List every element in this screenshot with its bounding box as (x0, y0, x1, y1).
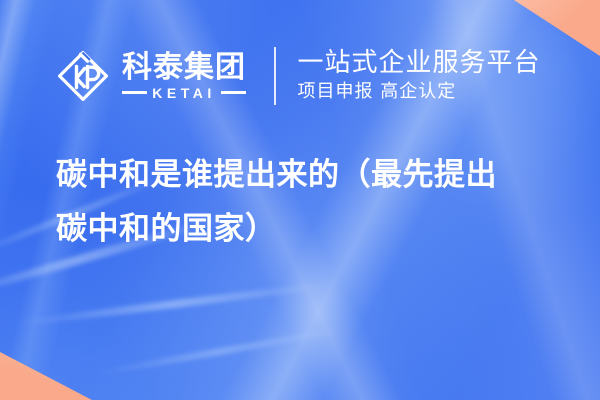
brand-logo[interactable]: 科泰集团 KETAI (56, 49, 246, 103)
promo-banner: 科泰集团 KETAI 一站式企业服务平台 项目申报 高企认定 碳中和是谁提出来的… (0, 0, 600, 400)
tagline-sub: 项目申报 高企认定 (298, 83, 541, 102)
brand-logo-wordmark: 科泰集团 KETAI (122, 53, 246, 100)
brand-name-cn: 科泰集团 (122, 53, 246, 83)
logo-rule-left-icon (122, 91, 147, 94)
logo-rule-right-icon (221, 91, 246, 94)
page-title-line-2: 碳中和的国家） (56, 202, 556, 256)
tagline-main: 一站式企业服务平台 (298, 50, 541, 77)
page-title: 碳中和是谁提出来的（最先提出 碳中和的国家） (56, 148, 556, 256)
banner-header: 科泰集团 KETAI 一站式企业服务平台 项目申报 高企认定 (56, 42, 541, 110)
tagline-block: 一站式企业服务平台 项目申报 高企认定 (298, 50, 541, 101)
ketai-diamond-kp-logo-icon (56, 49, 110, 103)
vertical-divider (274, 47, 276, 105)
brand-name-en-row: KETAI (122, 86, 246, 100)
brand-name-en: KETAI (152, 86, 215, 100)
page-title-line-1: 碳中和是谁提出来的（最先提出 (56, 148, 556, 202)
